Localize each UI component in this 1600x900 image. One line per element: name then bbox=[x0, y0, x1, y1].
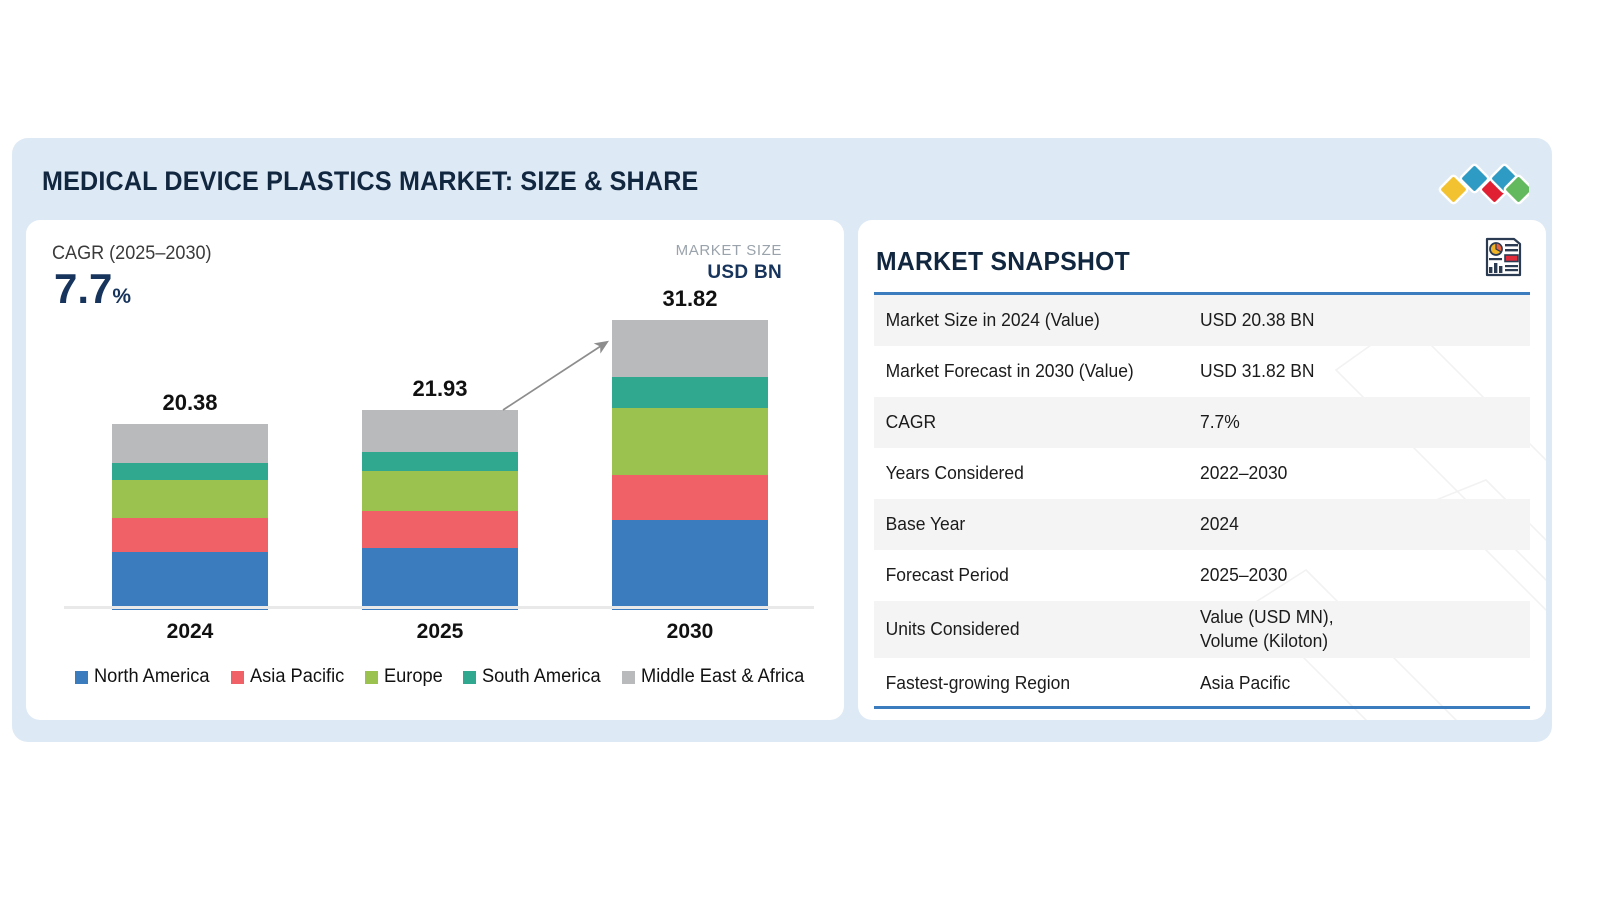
bar-total-label-2024: 20.38 bbox=[112, 390, 268, 416]
bar-segment-middle-east-africa bbox=[112, 424, 268, 463]
market-size-unit: USD BN bbox=[707, 262, 782, 284]
legend-swatch-icon bbox=[231, 671, 244, 684]
market-snapshot-card: MARKET SNAPSHOT Market Size in 2024 (Val… bbox=[858, 220, 1546, 720]
bar-segment-asia-pacific bbox=[112, 518, 268, 553]
legend-label: Asia Pacific bbox=[250, 666, 344, 688]
table-row-key: Fastest-growing Region bbox=[874, 673, 1190, 694]
cagr-label: CAGR (2025–2030) bbox=[52, 243, 212, 265]
infographic-page: MEDICAL DEVICE PLASTICS MARKET: SIZE & S… bbox=[0, 0, 1600, 900]
table-row: CAGR7.7% bbox=[874, 397, 1530, 448]
page-title: MEDICAL DEVICE PLASTICS MARKET: SIZE & S… bbox=[42, 166, 698, 197]
table-row-key: Forecast Period bbox=[874, 565, 1190, 586]
legend-swatch-icon bbox=[622, 671, 635, 684]
table-row-key: Base Year bbox=[874, 514, 1190, 535]
table-row-value: Asia Pacific bbox=[1200, 671, 1520, 695]
legend-item-middle-east-africa[interactable]: Middle East & Africa bbox=[622, 666, 811, 688]
legend-swatch-icon bbox=[75, 671, 88, 684]
bar-2030 bbox=[612, 320, 768, 610]
x-axis-line bbox=[64, 606, 814, 609]
table-row: Market Forecast in 2030 (Value)USD 31.82… bbox=[874, 346, 1530, 397]
x-axis-label-2025: 2025 bbox=[362, 620, 518, 644]
bar-segment-south-america bbox=[362, 452, 518, 470]
bar-2025 bbox=[362, 410, 518, 610]
snapshot-bottom-rule bbox=[874, 706, 1530, 709]
legend-item-europe[interactable]: Europe bbox=[365, 666, 445, 688]
chart-legend: North AmericaAsia PacificEuropeSouth Ame… bbox=[58, 666, 828, 688]
bar-segment-south-america bbox=[112, 463, 268, 480]
snapshot-table: Market Size in 2024 (Value)USD 20.38 BNM… bbox=[874, 295, 1530, 709]
table-row-value: 2025–2030 bbox=[1200, 563, 1520, 587]
table-row-value: 7.7% bbox=[1200, 410, 1520, 434]
legend-swatch-icon bbox=[365, 671, 378, 684]
bar-segment-south-america bbox=[612, 377, 768, 407]
bar-total-label-2030: 31.82 bbox=[612, 286, 768, 312]
bar-segment-middle-east-africa bbox=[612, 320, 768, 377]
legend-item-asia-pacific[interactable]: Asia Pacific bbox=[231, 666, 348, 688]
table-row: Market Size in 2024 (Value)USD 20.38 BN bbox=[874, 295, 1530, 346]
table-row: Years Considered2022–2030 bbox=[874, 448, 1530, 499]
table-row-key: Market Size in 2024 (Value) bbox=[874, 310, 1190, 331]
table-row: Units ConsideredValue (USD MN), Volume (… bbox=[874, 601, 1530, 658]
table-row-key: CAGR bbox=[874, 412, 1190, 433]
table-row: Base Year2024 bbox=[874, 499, 1530, 550]
table-row-key: Units Considered bbox=[874, 619, 1190, 640]
table-row-key: Market Forecast in 2030 (Value) bbox=[874, 361, 1190, 382]
legend-label: Europe bbox=[384, 666, 443, 688]
diamond-cluster-logo bbox=[1437, 155, 1529, 207]
table-row-key: Years Considered bbox=[874, 463, 1190, 484]
bar-segment-europe bbox=[612, 408, 768, 475]
bar-segment-north-america bbox=[612, 520, 768, 610]
bar-segment-north-america bbox=[362, 548, 518, 610]
legend-label: North America bbox=[94, 666, 210, 688]
legend-swatch-icon bbox=[463, 671, 476, 684]
legend-label: South America bbox=[482, 666, 601, 688]
bar-chart-plot-area: 20.3821.9331.82 bbox=[64, 300, 816, 610]
bar-2024 bbox=[112, 424, 268, 610]
legend-item-north-america[interactable]: North America bbox=[75, 666, 214, 688]
table-row-value: 2022–2030 bbox=[1200, 461, 1520, 485]
bar-segment-europe bbox=[112, 480, 268, 517]
legend-label: Middle East & Africa bbox=[641, 666, 804, 688]
table-row: Fastest-growing RegionAsia Pacific bbox=[874, 658, 1530, 709]
bar-segment-north-america bbox=[112, 552, 268, 610]
legend-item-south-america[interactable]: South America bbox=[463, 666, 606, 688]
table-row-value: Value (USD MN), Volume (Kiloton) bbox=[1200, 605, 1520, 654]
table-row-value: USD 31.82 BN bbox=[1200, 359, 1520, 383]
bar-segment-asia-pacific bbox=[362, 511, 518, 548]
x-axis-label-2024: 2024 bbox=[112, 620, 268, 644]
table-row-value: 2024 bbox=[1200, 512, 1520, 536]
report-document-icon bbox=[1480, 234, 1526, 280]
bar-segment-europe bbox=[362, 471, 518, 511]
bar-segment-middle-east-africa bbox=[362, 410, 518, 452]
bar-total-label-2025: 21.93 bbox=[362, 376, 518, 402]
x-axis-label-2030: 2030 bbox=[612, 620, 768, 644]
snapshot-title: MARKET SNAPSHOT bbox=[876, 246, 1130, 277]
market-size-label: MARKET SIZE bbox=[676, 242, 782, 259]
bar-segment-asia-pacific bbox=[612, 475, 768, 520]
table-row-value: USD 20.38 BN bbox=[1200, 308, 1520, 332]
table-row: Forecast Period2025–2030 bbox=[874, 550, 1530, 601]
